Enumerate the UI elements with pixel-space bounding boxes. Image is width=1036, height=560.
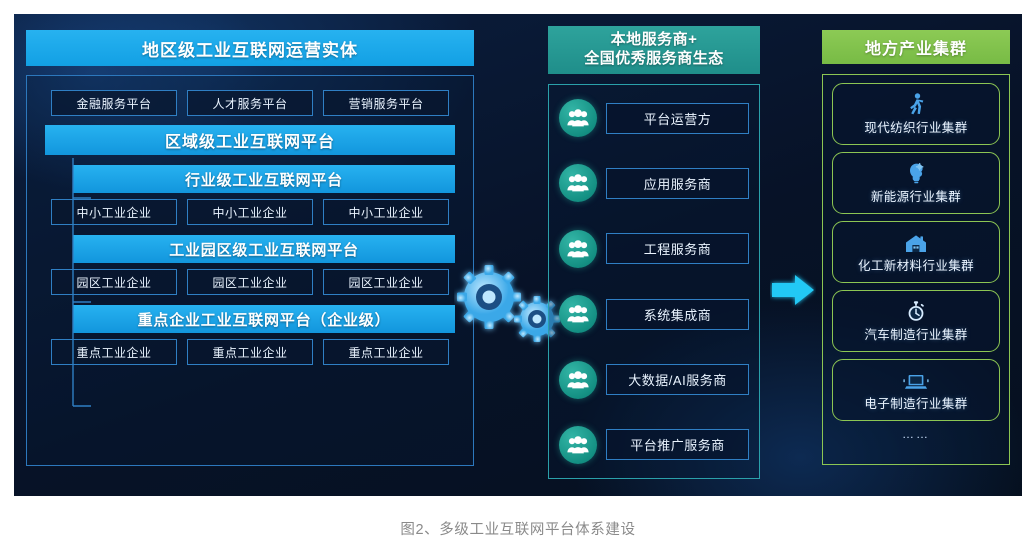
cluster-chemical-new-materials[interactable]: 化工新材料行业集群 [832, 221, 1000, 283]
service-item-engineering-provider[interactable]: 工程服务商 [559, 230, 749, 268]
chip-sme-2[interactable]: 中小工业企业 [187, 199, 313, 225]
middle-header-line1: 本地服务商+ [611, 31, 698, 50]
cluster-automobile-manufacturing[interactable]: 汽车制造行业集群 [832, 290, 1000, 352]
right-column-header: 地方产业集群 [822, 30, 1010, 64]
people-icon [559, 295, 597, 333]
chip-key-1[interactable]: 重点工业企业 [51, 339, 177, 365]
people-icon [559, 426, 597, 464]
figure-caption: 图2、多级工业互联网平台体系建设 [0, 518, 1036, 539]
factory-icon [904, 230, 928, 254]
chip-marketing-platform[interactable]: 营销服务平台 [323, 90, 449, 116]
right-arrow-icon [770, 272, 816, 313]
left-column-panel: 金融服务平台 人才服务平台 营销服务平台 区域级工业互联网平台 行业级工业互联网… [26, 75, 474, 466]
group-park-level: 工业园区级工业互联网平台 园区工业企业 园区工业企业 园区工业企业 [27, 235, 473, 295]
people-icon [559, 361, 597, 399]
cluster-label: 汽车制造行业集群 [864, 324, 967, 343]
cluster-electronics-manufacturing[interactable]: 电子制造行业集群 [832, 359, 1000, 421]
left-column-header: 地区级工业互联网运营实体 [26, 30, 474, 66]
bar-industry-platform[interactable]: 行业级工业互联网平台 [73, 165, 455, 193]
middle-column-header: 本地服务商+ 全国优秀服务商生态 [548, 26, 760, 74]
people-icon [559, 230, 597, 268]
figure-canvas: 地区级工业互联网运营实体 金融服务平台 人才服务平台 [14, 14, 1022, 496]
group-key-enterprise-level: 重点企业工业互联网平台（企业级） 重点工业企业 重点工业企业 重点工业企业 [27, 305, 473, 365]
bar-key-enterprise-platform[interactable]: 重点企业工业互联网平台（企业级） [73, 305, 455, 333]
industry-cluster-panel: 现代纺织行业集群 [822, 74, 1010, 465]
service-label: 大数据/AI服务商 [606, 364, 749, 395]
cluster-new-energy[interactable]: 新能源行业集群 [832, 152, 1000, 214]
middle-column: 本地服务商+ 全国优秀服务商生态 平台运营方 [548, 26, 760, 479]
service-item-bigdata-ai-provider[interactable]: 大数据/AI服务商 [559, 361, 749, 399]
cluster-label: 新能源行业集群 [871, 186, 961, 205]
more-clusters-indicator: …… [832, 427, 1000, 441]
bar-park-platform[interactable]: 工业园区级工业互联网平台 [73, 235, 455, 263]
service-label: 工程服务商 [606, 233, 749, 264]
service-item-platform-promotion-provider[interactable]: 平台推广服务商 [559, 426, 749, 464]
right-column: 地方产业集群 现代纺织行业集群 [822, 30, 1010, 465]
middle-header-line2: 全国优秀服务商生态 [584, 50, 724, 69]
people-icon [559, 99, 597, 137]
people-icon [559, 164, 597, 202]
service-label: 平台运营方 [606, 103, 749, 134]
group-industry-level: 行业级工业互联网平台 中小工业企业 中小工业企业 中小工业企业 [27, 165, 473, 225]
left-column: 地区级工业互联网运营实体 金融服务平台 人才服务平台 [26, 30, 474, 466]
service-item-application-provider[interactable]: 应用服务商 [559, 164, 749, 202]
chip-park-1[interactable]: 园区工业企业 [51, 269, 177, 295]
service-label: 系统集成商 [606, 299, 749, 330]
bar-regional-platform[interactable]: 区域级工业互联网平台 [45, 125, 455, 155]
park-enterprise-row: 园区工业企业 园区工业企业 园区工业企业 [27, 269, 473, 295]
cluster-label: 现代纺织行业集群 [864, 117, 967, 136]
cluster-label: 化工新材料行业集群 [858, 255, 974, 274]
key-enterprise-row: 重点工业企业 重点工业企业 重点工业企业 [27, 339, 473, 365]
service-provider-panel: 平台运营方 应用服务商 [548, 84, 760, 479]
chip-park-3[interactable]: 园区工业企业 [323, 269, 449, 295]
cluster-label: 电子制造行业集群 [864, 393, 967, 412]
chip-sme-1[interactable]: 中小工业企业 [51, 199, 177, 225]
chip-financial-platform[interactable]: 金融服务平台 [51, 90, 177, 116]
walking-person-icon [906, 92, 926, 116]
cluster-modern-textile[interactable]: 现代纺织行业集群 [832, 83, 1000, 145]
chip-park-2[interactable]: 园区工业企业 [187, 269, 313, 295]
stopwatch-icon [906, 299, 926, 323]
chip-key-3[interactable]: 重点工业企业 [323, 339, 449, 365]
service-item-system-integrator[interactable]: 系统集成商 [559, 295, 749, 333]
laptop-icon [903, 368, 929, 392]
brain-gear-icon [906, 161, 926, 185]
chip-key-2[interactable]: 重点工业企业 [187, 339, 313, 365]
chip-sme-3[interactable]: 中小工业企业 [323, 199, 449, 225]
industry-enterprise-row: 中小工业企业 中小工业企业 中小工业企业 [27, 199, 473, 225]
service-label: 平台推广服务商 [606, 429, 749, 460]
service-platform-row: 金融服务平台 人才服务平台 营销服务平台 [27, 76, 473, 116]
service-label: 应用服务商 [606, 168, 749, 199]
service-item-platform-operator[interactable]: 平台运营方 [559, 99, 749, 137]
chip-talent-platform[interactable]: 人才服务平台 [187, 90, 313, 116]
